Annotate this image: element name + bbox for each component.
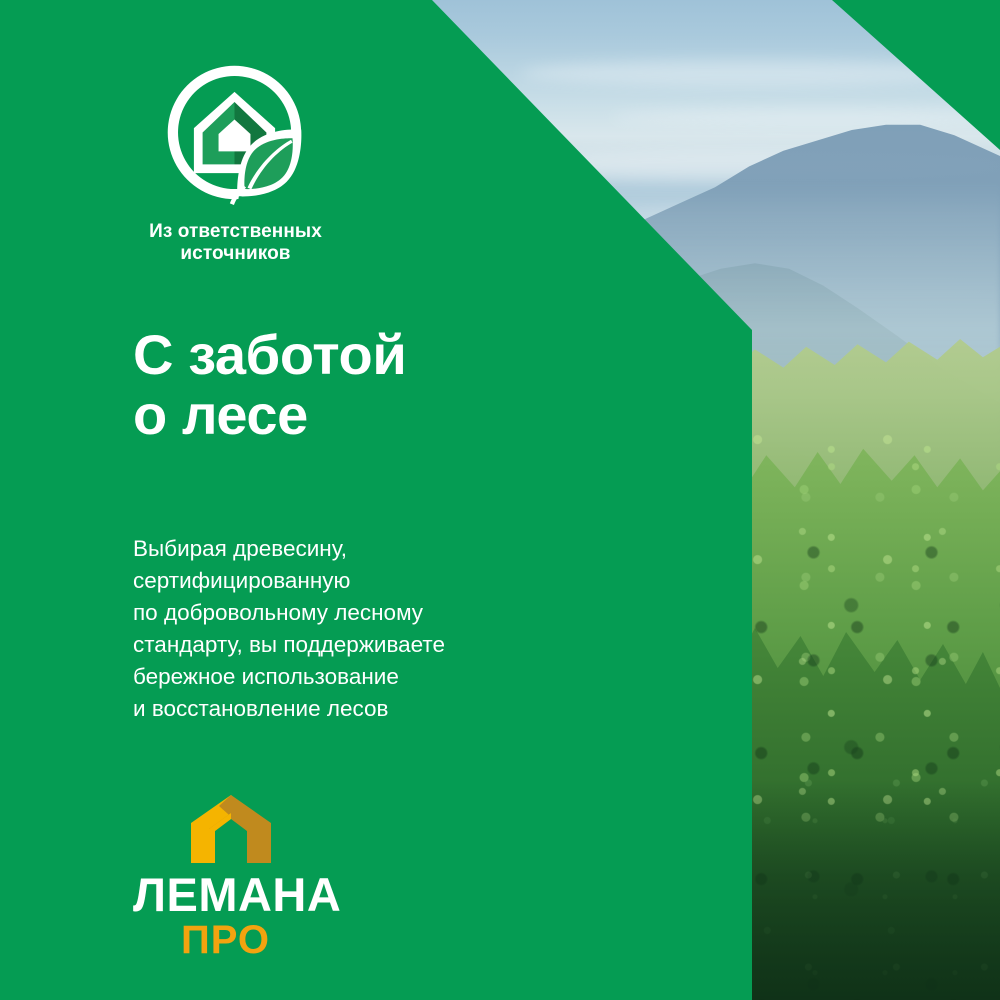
- body-copy-line-3: по добровольному лесному: [133, 597, 445, 629]
- headline-line2: о лесе: [133, 385, 406, 445]
- body-copy-line-6: и восстановление лесов: [133, 693, 445, 725]
- body-copy-line-2: сертифицированную: [133, 565, 445, 597]
- brand-sub-name: ПРО: [181, 920, 373, 960]
- lemana-house-icon: [185, 793, 277, 865]
- certification-mark: Из ответственных источников: [133, 60, 363, 266]
- body-copy-line-5: бережное использование: [133, 661, 445, 693]
- brand-name: ЛЕМАНА: [133, 871, 373, 918]
- body-copy: Выбирая древесину, сертифицированную по …: [133, 533, 445, 725]
- promo-poster: Из ответственных источников С заботой о …: [0, 0, 1000, 1000]
- body-copy-line-4: стандарту, вы поддерживаете: [133, 629, 445, 661]
- headline-line1: С заботой: [133, 323, 406, 386]
- certification-caption-line1: Из ответственных: [149, 221, 322, 242]
- house-leaf-circle-icon: [162, 60, 307, 205]
- poster-content: Из ответственных источников С заботой о …: [0, 0, 760, 1000]
- certification-caption: Из ответственных источников: [133, 221, 338, 266]
- body-copy-line-1: Выбирая древесину,: [133, 533, 445, 565]
- brand-lockup: ЛЕМАНА ПРО: [133, 793, 373, 960]
- certification-caption-line2: источников: [133, 243, 338, 265]
- headline: С заботой о лесе: [133, 325, 406, 445]
